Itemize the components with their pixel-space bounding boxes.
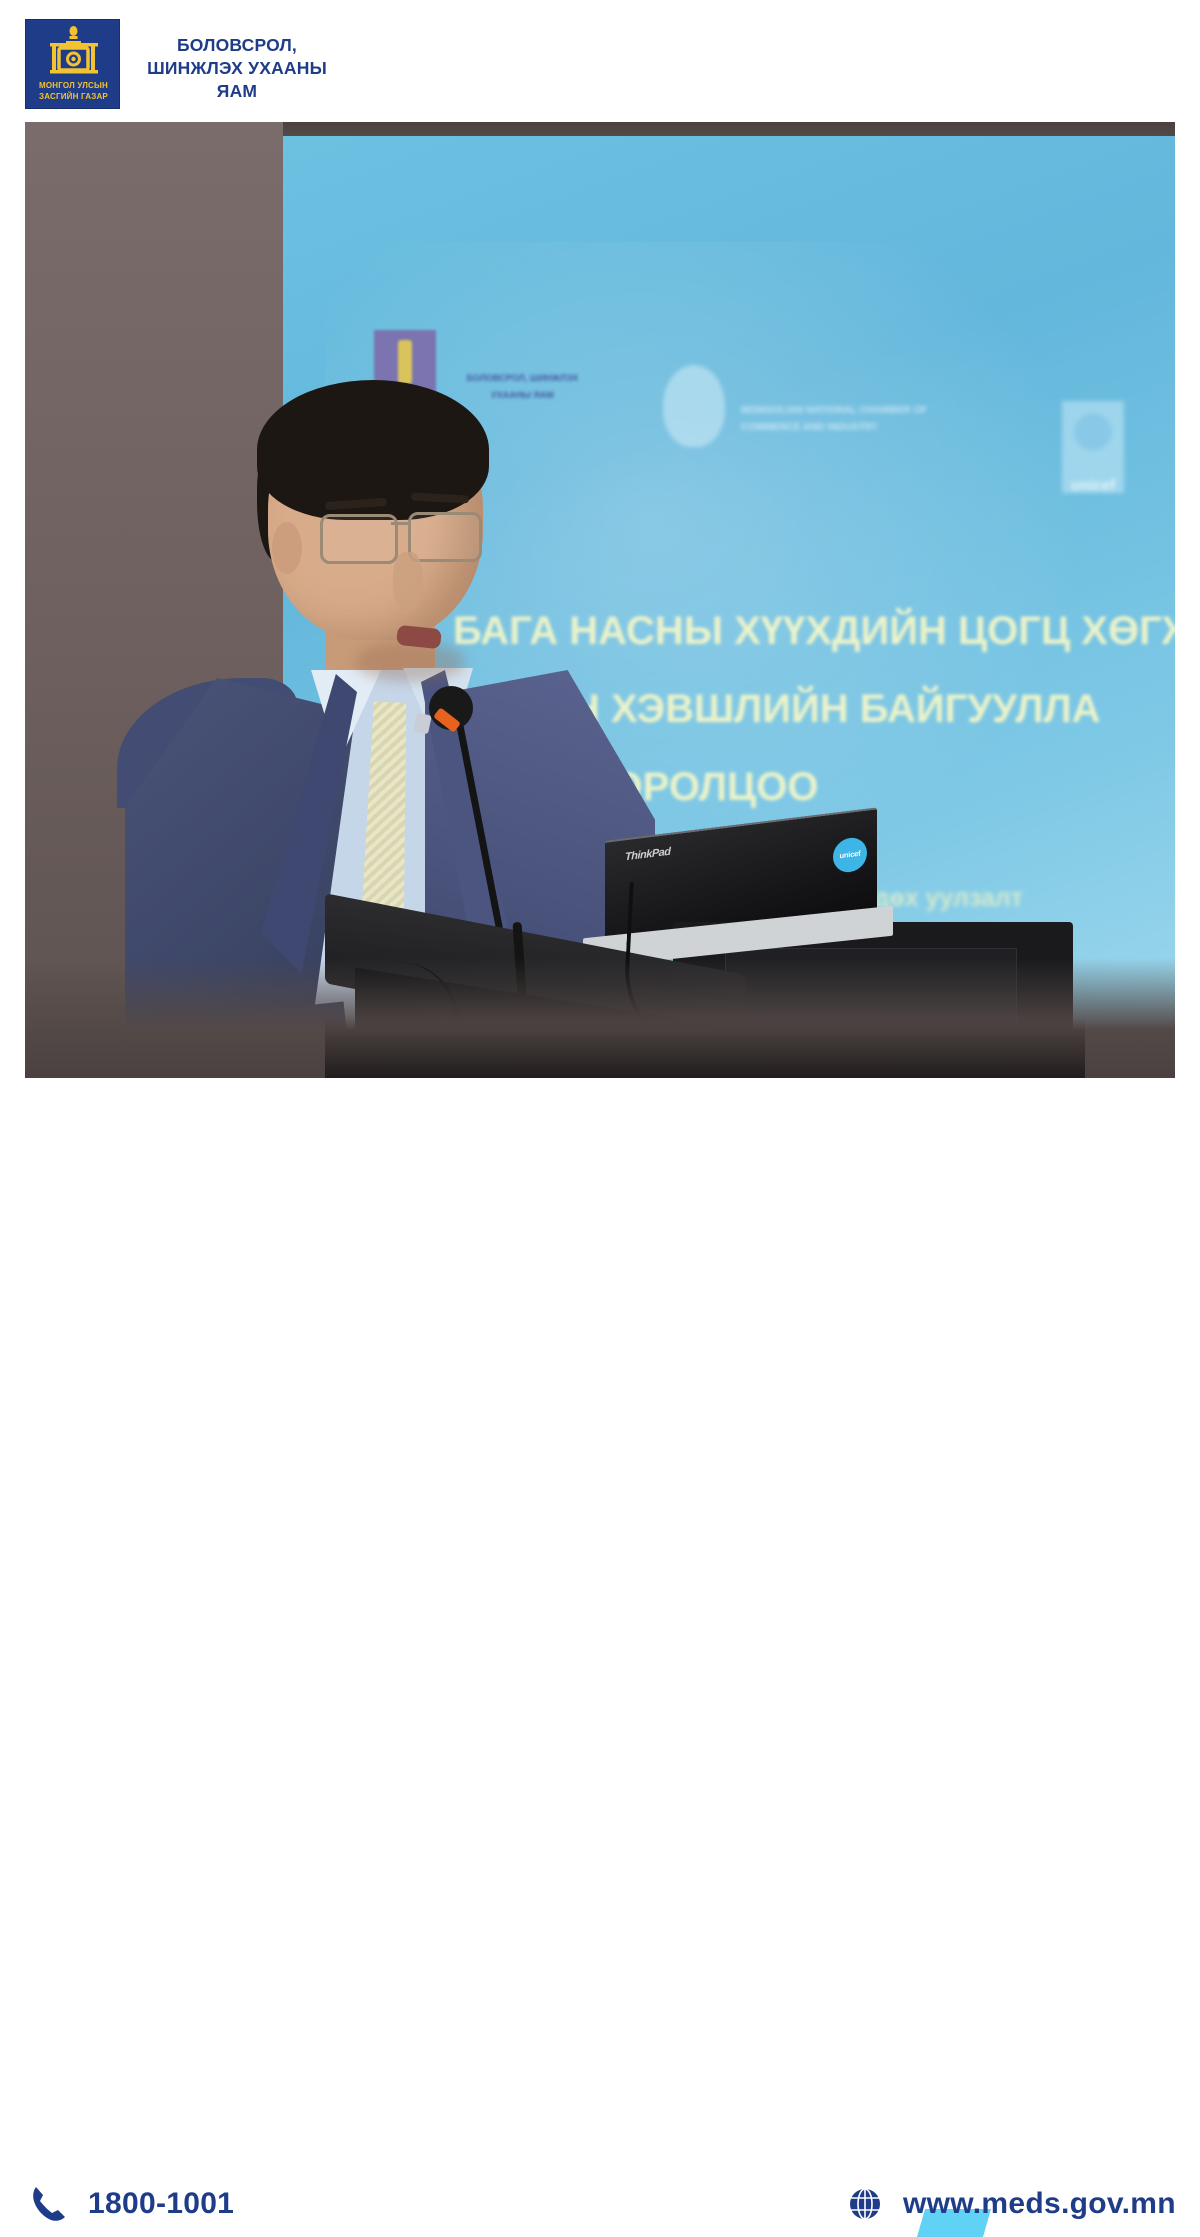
eyeglasses-right-lens [408, 512, 482, 562]
speaker-ear [272, 522, 302, 574]
phone-icon [30, 2183, 70, 2225]
speaker-nose [393, 552, 423, 614]
ministry-title: БОЛОВСРОЛ, ШИНЖЛЭХ УХААНЫ ЯАМ [122, 34, 352, 103]
gov-logo-line1: МОНГОЛ УЛСЫН [26, 80, 120, 91]
government-logo-text: МОНГОЛ УЛСЫН ЗАСГИЙН ГАЗАР [26, 80, 120, 102]
phone-number: 1800-1001 [88, 2187, 234, 2221]
page-header: МОНГОЛ УЛСЫН ЗАСГИЙН ГАЗАР БОЛОВСРОЛ, ШИ… [0, 0, 1200, 122]
speaker-chin-shadow [355, 642, 465, 682]
ministry-title-line1: БОЛОВСРОЛ, [122, 34, 352, 57]
podium-shadow [325, 1018, 1085, 1078]
website-wrapper: www.meds.gov.mn [903, 2187, 1176, 2221]
contact-phone[interactable]: 1800-1001 [30, 2183, 234, 2225]
globe-icon [845, 2183, 885, 2225]
ministry-title-line3: ЯАМ [122, 80, 352, 103]
laptop-unicef-sticker: unicef [833, 836, 867, 874]
page-footer: 1800-1001 www.meds.gov.mn [0, 1078, 1200, 1200]
gov-logo-line2: ЗАСГИЙН ГАЗАР [26, 91, 120, 102]
laptop-sticker-label: unicef [833, 836, 867, 874]
contact-website[interactable]: www.meds.gov.mn [845, 2183, 1176, 2225]
website-url: www.meds.gov.mn [903, 2187, 1176, 2220]
event-photograph: БОЛОВСРОЛ, ШИНЖЛЭХ УХААНЫ ЯАМ MONGOLIAN … [25, 122, 1175, 1078]
eyeglasses-bridge [391, 522, 410, 525]
ministry-title-line2: ШИНЖЛЭХ УХААНЫ [122, 57, 352, 80]
soyombo-icon [26, 24, 120, 80]
eyeglasses-left-lens [320, 514, 398, 564]
mongolian-government-emblem-logo: МОНГОЛ УЛСЫН ЗАСГИЙН ГАЗАР [25, 19, 120, 109]
